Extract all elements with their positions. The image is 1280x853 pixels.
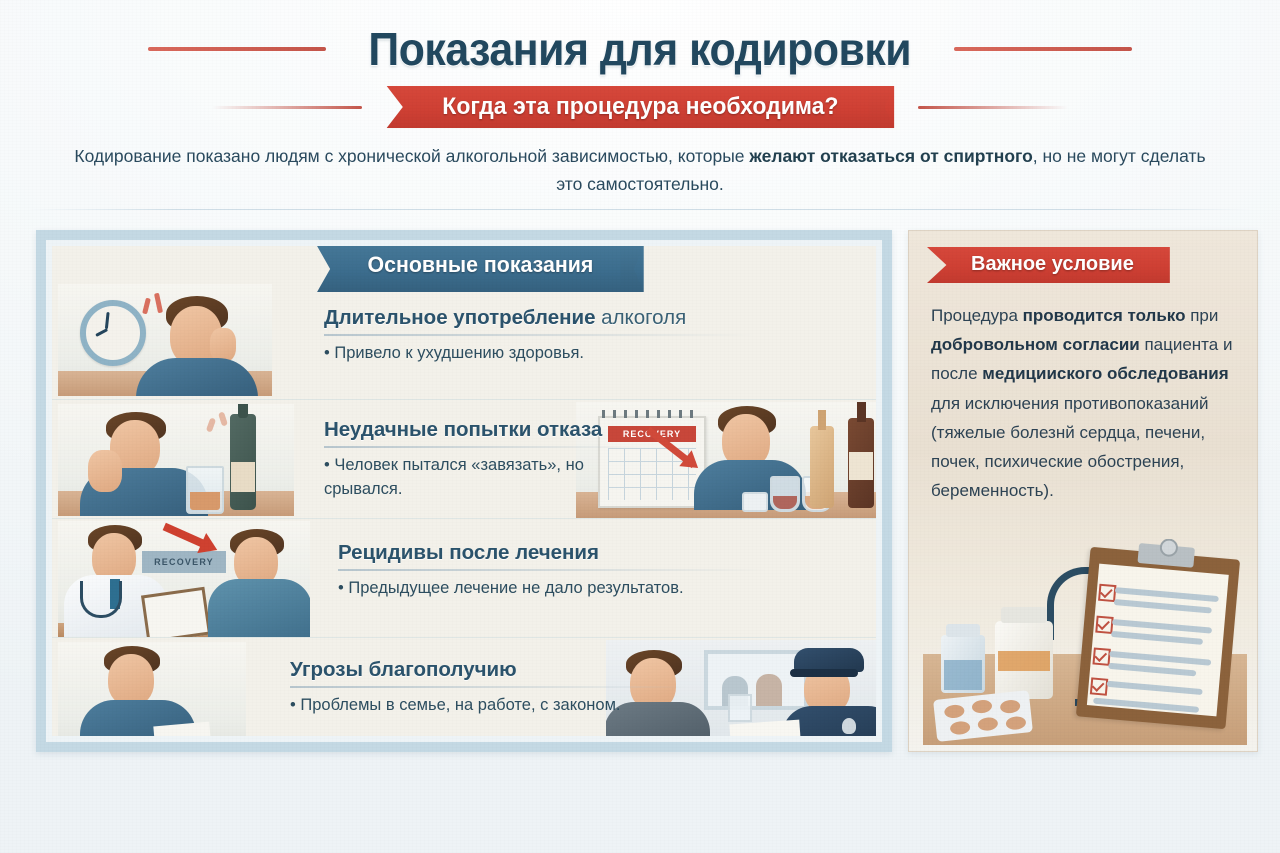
checklist-line	[1114, 599, 1212, 614]
person-torso	[136, 358, 258, 396]
indication-title-bold: Рецидивы после лечения	[338, 541, 599, 564]
bottle-icon	[230, 414, 256, 510]
content-stage: Основные показания	[0, 216, 1280, 756]
stethoscope-icon	[80, 581, 122, 618]
title-underline	[338, 569, 768, 571]
indication-item: Длительное употребление алкоголя • Приве…	[52, 280, 876, 399]
indication-bullet: • Проблемы в семье, на работе, с законом…	[290, 694, 690, 718]
drinking-glass	[186, 466, 224, 514]
header-divider	[28, 209, 1252, 210]
side-ribbon: Важное условие	[927, 247, 1170, 283]
illustration-man-writing	[58, 642, 246, 736]
pill-bottle	[995, 621, 1053, 699]
title-underline	[324, 446, 644, 448]
indication-item: Угрозы благополучию • Проблемы в семье, …	[52, 637, 876, 736]
intro-text-bold: желают отказаться от спиртного	[749, 146, 1032, 166]
side-text-bold: медицииского обследования	[982, 364, 1228, 383]
clipboard	[141, 587, 211, 637]
indication-bullet: • Человек пытался «завязать», но срывалс…	[324, 454, 644, 502]
person-head	[108, 654, 154, 706]
indication-title: Угрозы благополучию	[290, 658, 690, 683]
indication-text-block: Длительное употребление алкоголя • Приве…	[324, 306, 754, 366]
illustration-medical-supplies	[923, 539, 1247, 745]
question-ribbon: Когда эта процедура необходима?	[386, 86, 894, 128]
indication-title-bold: Длительное употребление	[324, 306, 595, 329]
subtitle-rule-right	[918, 106, 1068, 109]
side-text-normal: при	[1185, 306, 1218, 325]
illustration-doctor-and-patient: RECOVERY	[58, 521, 310, 637]
wine-glass	[770, 476, 800, 512]
indication-bullet: • Предыдущее лечение не дало результатов…	[338, 577, 768, 601]
main-indications-panel: Основные показания	[36, 230, 892, 752]
side-text-bold: добровольном согласии	[931, 335, 1140, 354]
wall-clock-icon	[80, 300, 146, 366]
pill	[977, 717, 998, 732]
indication-title: Неудачные попытки отказа	[324, 418, 644, 443]
indication-title-light: алкоголя	[595, 306, 686, 329]
calendar-rings	[602, 410, 698, 418]
illustration-man-with-bottle	[58, 404, 294, 516]
page-header: Показания для кодировки Когда эта процед…	[0, 0, 1280, 212]
person-hand	[210, 328, 236, 362]
title-underline	[324, 334, 754, 336]
splash-accent	[206, 417, 216, 432]
title-rule-right	[954, 47, 1132, 51]
indication-title: Длительное употребление алкоголя	[324, 306, 754, 331]
small-cup	[742, 492, 768, 512]
bottle-icon	[848, 418, 874, 508]
illustration-tired-man-with-clock	[58, 284, 272, 396]
main-ribbon: Основные показания	[317, 246, 644, 292]
indication-title-bold: Угрозы благополучию	[290, 658, 517, 681]
subtitle-row: Когда эта процедура необходима?	[0, 84, 1280, 130]
checklist-sheet	[1087, 564, 1229, 717]
intro-text-1: Кодирование показано людям с хронической…	[74, 146, 749, 166]
indication-title: Рецидивы после лечения	[338, 541, 768, 566]
red-arrow-icon	[163, 523, 214, 551]
patient-torso	[208, 579, 310, 637]
police-cap-icon	[794, 648, 864, 672]
main-ribbon-label: Основные показания	[367, 253, 593, 277]
checklist-line	[1108, 663, 1196, 677]
clipboard-clip	[1137, 543, 1195, 568]
indication-item: RECOVERY Рецидивы после	[52, 518, 876, 637]
title-underline	[290, 686, 690, 688]
checklist-line	[1107, 681, 1203, 695]
side-ribbon-wrap: Важное условие	[927, 247, 1258, 287]
pill	[1005, 716, 1026, 731]
stress-spark-icon	[154, 293, 163, 314]
checklist-line	[1111, 631, 1203, 645]
title-rule-left	[148, 47, 326, 51]
indication-text-block: Рецидивы после лечения • Предыдущее лече…	[338, 541, 768, 601]
police-badge-icon	[842, 718, 856, 734]
important-condition-panel: Важное условие Процедура проводится толь…	[908, 230, 1258, 752]
question-ribbon-label: Когда эта процедура необходима?	[442, 94, 838, 119]
side-text-bold: проводится только	[1023, 306, 1186, 325]
side-ribbon-label: Важное условие	[971, 253, 1134, 275]
subtitle-rule-left	[212, 106, 362, 109]
title-row: Показания для кодировки	[0, 18, 1280, 80]
side-text-normal: Процедура	[931, 306, 1023, 325]
indication-bullet: • Привело к ухудшению здоровья.	[324, 342, 754, 366]
indications-list: Длительное употребление алкоголя • Приве…	[52, 280, 876, 736]
pill	[949, 720, 970, 735]
checklist-line	[1093, 698, 1199, 713]
bottle-icon	[810, 426, 834, 508]
page-title: Показания для кодировки	[369, 22, 912, 76]
person-arm	[88, 450, 122, 492]
indication-item: RECOVERY	[52, 399, 876, 518]
indication-text-block: Неудачные попытки отказа • Человек пытал…	[324, 418, 644, 501]
photo-person	[756, 674, 782, 706]
stress-spark-icon	[142, 298, 151, 315]
drinking-glass	[728, 694, 752, 722]
side-text-normal: для исключения противопоказаний (тяжелые…	[931, 394, 1209, 501]
pill	[971, 699, 992, 714]
clipboard	[1076, 547, 1240, 729]
main-ribbon-wrap: Основные показания	[52, 246, 876, 292]
side-panel-text: Процедура проводится только при добровол…	[931, 301, 1237, 506]
pill	[944, 704, 965, 719]
pill	[1000, 699, 1021, 714]
checkbox-checked-icon	[1090, 677, 1108, 695]
main-panel-inner: Основные показания	[52, 246, 876, 736]
intro-paragraph: Кодирование показано людям с хронической…	[60, 142, 1220, 199]
splash-accent	[218, 411, 228, 426]
medicine-jar	[941, 635, 985, 693]
indication-text-block: Угрозы благополучию • Проблемы в семье, …	[290, 658, 690, 718]
family-photo-frame	[704, 650, 808, 710]
indication-title-bold: Неудачные попытки отказа	[324, 418, 602, 441]
